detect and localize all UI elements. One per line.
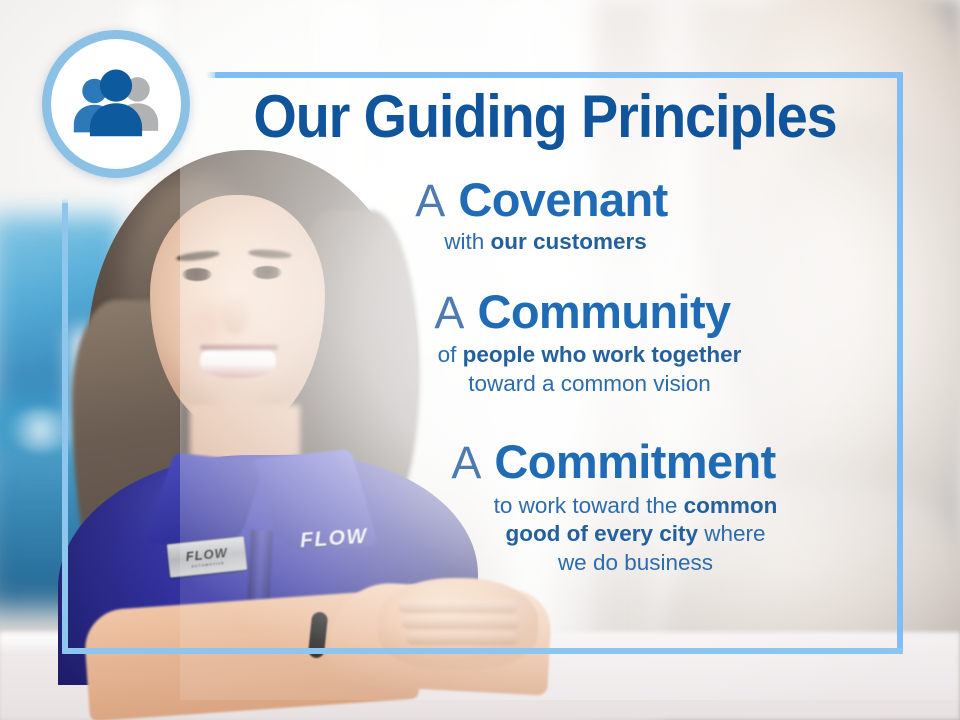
principle-title: A Covenant xyxy=(180,175,895,226)
frame-border-right xyxy=(897,72,903,654)
description-line: good of every city where xyxy=(376,520,895,549)
employee-finger xyxy=(398,600,518,613)
principle-article: A xyxy=(434,287,464,338)
frame-border-bottom xyxy=(62,648,903,654)
description-line: we do business xyxy=(376,549,895,578)
principle-description: to work toward the commongood of every c… xyxy=(180,492,895,578)
description-line: with our customers xyxy=(196,228,895,257)
frame-border-left xyxy=(62,203,68,654)
principle-title: A Commitment xyxy=(180,437,895,488)
principle-keyword: Covenant xyxy=(458,173,667,226)
frame-border-top xyxy=(215,72,903,78)
principle-article: A xyxy=(415,175,445,226)
principle-community: A Community of people who work togethert… xyxy=(180,287,895,399)
principle-description: with our customers xyxy=(180,228,895,257)
employee-finger xyxy=(402,616,520,629)
principle-covenant: A Covenant with our customers xyxy=(180,175,895,257)
people-group-badge xyxy=(42,30,190,178)
principle-commitment: A Commitment to work toward the commongo… xyxy=(180,437,895,578)
people-group-icon xyxy=(70,58,162,150)
description-line: toward a common vision xyxy=(284,370,895,399)
principle-description: of people who work togethertoward a comm… xyxy=(180,341,895,399)
principle-keyword: Community xyxy=(477,285,730,338)
description-line: to work toward the common xyxy=(376,492,895,521)
banner-image: FLOW AUTOMOTIVE FLOW xyxy=(0,0,960,720)
page-title: Our Guiding Principles xyxy=(238,86,852,147)
principle-article: A xyxy=(451,437,481,488)
principles-list: A Covenant with our customers A Communit… xyxy=(180,175,895,584)
description-line: of people who work together xyxy=(284,341,895,370)
principle-keyword: Commitment xyxy=(494,435,775,488)
principle-title: A Community xyxy=(180,287,895,338)
employee-finger xyxy=(406,632,518,645)
